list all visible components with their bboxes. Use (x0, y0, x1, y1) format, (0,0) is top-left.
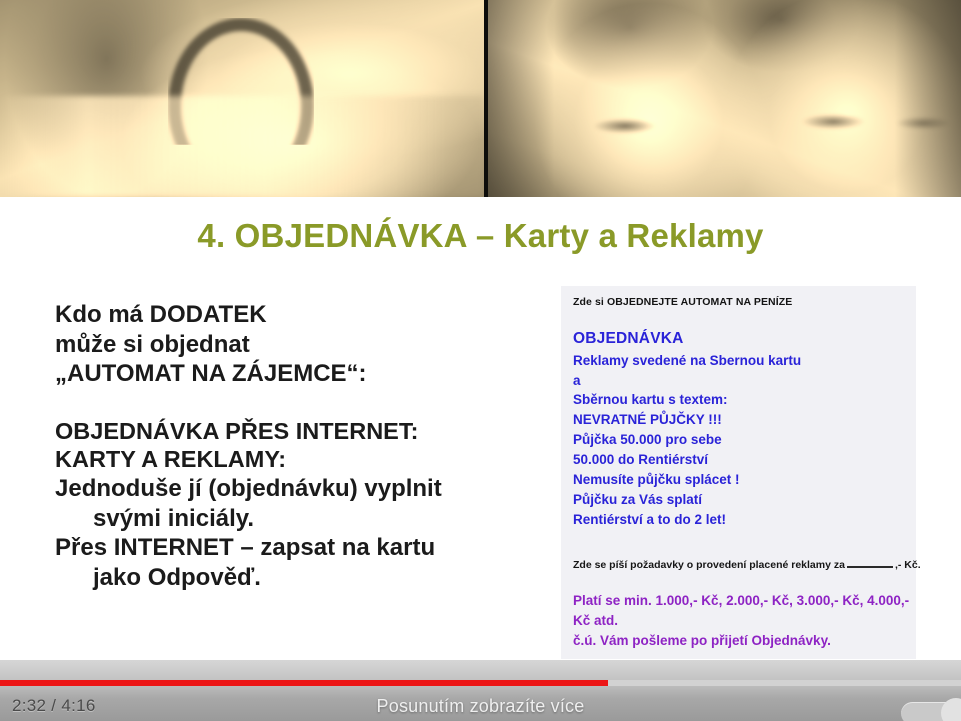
left-line-1: Kdo má DODATEK (55, 300, 525, 330)
left-line-6: Jednoduše jí (objednávku) vyplnit (55, 474, 525, 504)
document-blue-line-9: Půjčku za Vás splatí (573, 490, 904, 510)
progress-bar-played (0, 680, 608, 686)
video-player: 4. OBJEDNÁVKA – Karty a Reklamy Kdo má D… (0, 0, 961, 721)
player-control-bar[interactable]: 2:32 / 4:16 Posunutím zobrazíte více (0, 660, 961, 721)
photo-strip (0, 0, 961, 197)
photo-faces-image (488, 0, 961, 197)
fill-in-blank-rule (847, 566, 893, 568)
slide-body: 4. OBJEDNÁVKA – Karty a Reklamy Kdo má D… (0, 197, 961, 660)
progress-bar-track[interactable] (0, 680, 961, 686)
document-header: Zde si OBJEDNEJTE AUTOMAT NA PENÍZE (573, 296, 904, 308)
document-blue-line-6: Půjčka 50.000 pro sebe (573, 430, 904, 450)
document-note-suffix: ,- Kč. (895, 559, 921, 571)
left-text-column: Kdo má DODATEK může si objednat „AUTOMAT… (55, 300, 525, 592)
scroll-hint-text: Posunutím zobrazíte více (0, 696, 961, 717)
left-line-9: jako Odpověď. (55, 563, 525, 593)
document-purple-line-2: Kč atd. (573, 611, 904, 631)
document-blue-line-2: Reklamy svedené na Sbernou kartu (573, 351, 904, 371)
document-blue-line-7: 50.000 do Rentiérství (573, 450, 904, 470)
left-line-7: svými iniciály. (55, 504, 525, 534)
document-note-line: Zde se píší požadavky o provedení placen… (573, 559, 904, 571)
document-spacer-bottom (573, 571, 904, 591)
left-line-5: KARTY A REKLAMY: (55, 445, 525, 474)
document-blue-line-4: Sběrnou kartu s textem: (573, 390, 904, 410)
order-document-card: Zde si OBJEDNEJTE AUTOMAT NA PENÍZE OBJE… (561, 286, 916, 659)
document-blue-line-10: Rentiérství a to do 2 let! (573, 510, 904, 530)
document-purple-line-1: Platí se min. 1.000,- Kč, 2.000,- Kč, 3.… (573, 591, 904, 611)
document-blue-line-8: Nemusíte půjčku splácet ! (573, 470, 904, 490)
left-line-2: může si objednat (55, 330, 525, 360)
left-line-3: „AUTOMAT NA ZÁJEMCE“: (55, 359, 525, 389)
document-note-prefix: Zde se píší požadavky o provedení placen… (573, 559, 845, 571)
left-line-8: Přes INTERNET – zapsat na kartu (55, 533, 525, 563)
photo-hands-image (0, 0, 484, 197)
left-column-spacer (55, 389, 525, 417)
document-purple-line-3: č.ú. Vám pošleme po přijetí Objednávky. (573, 631, 904, 651)
left-line-4: OBJEDNÁVKA PŘES INTERNET: (55, 417, 525, 446)
slide-title: 4. OBJEDNÁVKA – Karty a Reklamy (0, 217, 961, 255)
document-spacer-middle (573, 529, 904, 559)
document-blue-line-1: OBJEDNÁVKA (573, 328, 904, 351)
document-blue-line-5: NEVRATNÉ PŮJČKY !!! (573, 410, 904, 430)
document-spacer-top (573, 308, 904, 328)
document-blue-line-3: a (573, 371, 904, 391)
